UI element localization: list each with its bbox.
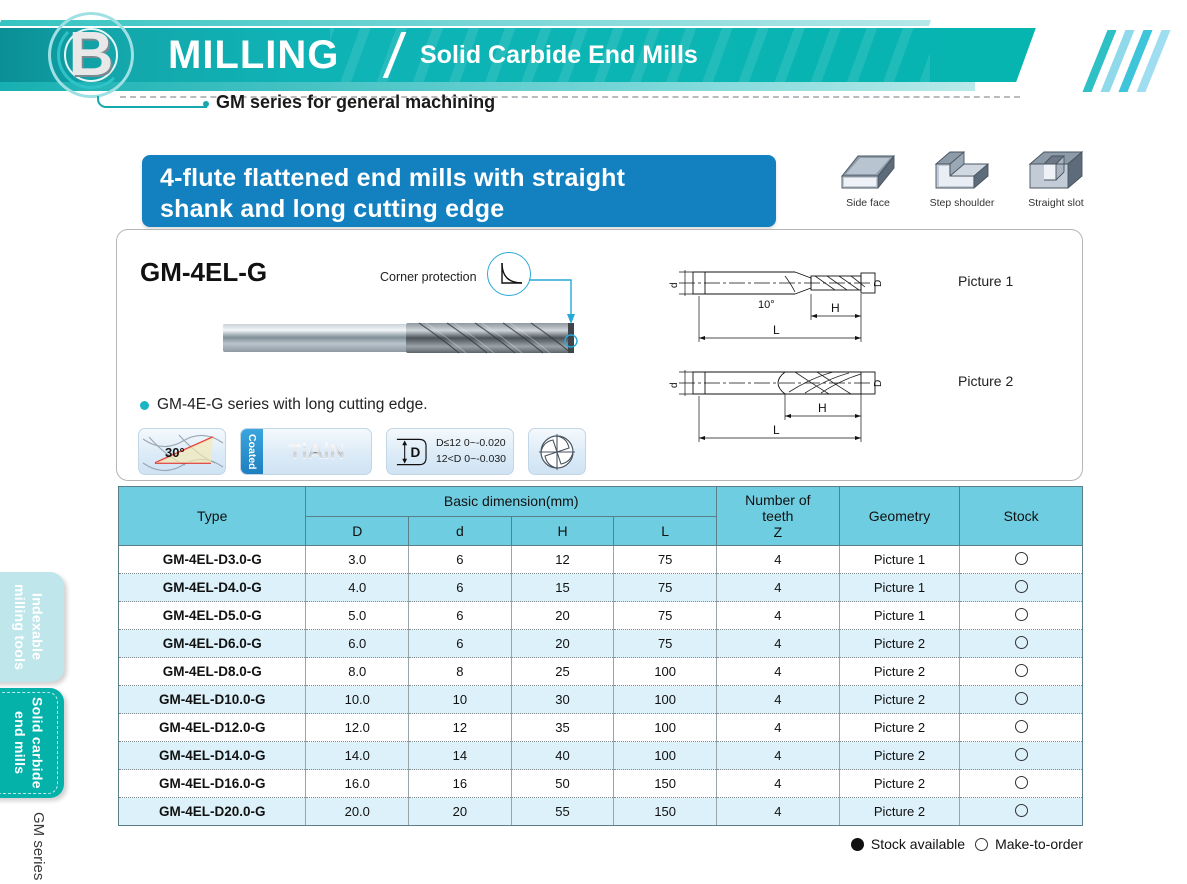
helix-angle-icon: 30° [139, 429, 225, 474]
cell-D: 14.0 [306, 742, 409, 770]
stock-legend: Stock available Make-to-order [851, 836, 1083, 852]
page-subtitle: Solid Carbide End Mills [420, 41, 698, 70]
cell-d: 6 [409, 602, 512, 630]
open-circle-icon [1015, 664, 1028, 677]
series-connector-line [97, 96, 207, 108]
coated-strip: Coated [241, 429, 263, 474]
open-circle-icon [1015, 580, 1028, 593]
cell-L: 100 [614, 742, 717, 770]
tolerance-values: D≤12 0~-0.020 12<D 0~-0.030 [436, 436, 506, 466]
legend-label: Stock available [871, 836, 965, 852]
th-D: D [306, 516, 409, 546]
corner-protection-leader-line [527, 268, 587, 338]
cell-geometry: Picture 2 [839, 798, 960, 826]
sidebar-item-indexable-milling-tools[interactable]: Indexablemilling tools [0, 572, 64, 682]
cell-H: 20 [511, 602, 614, 630]
cell-L: 75 [614, 546, 717, 574]
operation-side-face: Side face [832, 142, 904, 209]
open-circle-icon [1015, 804, 1028, 817]
cell-type: GM-4EL-D8.0-G [119, 658, 306, 686]
cell-L: 100 [614, 714, 717, 742]
cell-type: GM-4EL-D3.0-G [119, 546, 306, 574]
cell-teeth: 4 [717, 742, 840, 770]
badge-flute-count [528, 428, 586, 475]
table-row: GM-4EL-D5.0-G5.0620754Picture 1 [119, 602, 1083, 630]
cell-geometry: Picture 2 [839, 658, 960, 686]
open-circle-icon [1015, 720, 1028, 733]
cell-D: 16.0 [306, 770, 409, 798]
step-shoulder-icon [930, 142, 994, 194]
dim-H-label: H [831, 301, 840, 315]
cell-type: GM-4EL-D14.0-G [119, 742, 306, 770]
4-flute-cross-section-icon [536, 431, 578, 473]
cell-H: 55 [511, 798, 614, 826]
cell-L: 75 [614, 602, 717, 630]
diagram-picture-2: d D H L [665, 358, 950, 453]
straight-slot-icon [1024, 142, 1088, 194]
open-circle-icon [1015, 776, 1028, 789]
cell-H: 50 [511, 770, 614, 798]
dim-H-label: H [818, 401, 827, 415]
cell-H: 30 [511, 686, 614, 714]
cell-H: 12 [511, 546, 614, 574]
cell-L: 100 [614, 686, 717, 714]
table-row: GM-4EL-D20.0-G20.020551504Picture 2 [119, 798, 1083, 826]
cell-d: 6 [409, 546, 512, 574]
dim-angle-label: 10° [758, 299, 775, 311]
operation-caption: Side face [832, 197, 904, 209]
sidebar-item-solid-carbide-end-mills[interactable]: Solid carbideend mills [0, 688, 64, 798]
cell-D: 6.0 [306, 630, 409, 658]
header-corner-slashes-icon [1089, 30, 1179, 92]
legend-stock-available: Stock available [851, 836, 965, 852]
open-circle-icon [1015, 692, 1028, 705]
badge-helix-angle: 30° [138, 428, 226, 475]
cell-teeth: 4 [717, 602, 840, 630]
th-geometry: Geometry [839, 487, 960, 546]
cell-teeth: 4 [717, 630, 840, 658]
cell-H: 15 [511, 574, 614, 602]
header-accent-bottom [0, 82, 975, 91]
th-H: H [511, 516, 614, 546]
cell-teeth: 4 [717, 770, 840, 798]
product-note: GM-4E-G series with long cutting edge. [140, 396, 428, 414]
series-bullet-icon [203, 101, 209, 107]
cell-L: 150 [614, 798, 717, 826]
operation-caption: Step shoulder [926, 197, 998, 209]
section-badge-logo: B [48, 12, 134, 98]
corner-protection-marker-icon [560, 330, 582, 352]
cell-geometry: Picture 2 [839, 686, 960, 714]
cell-L: 150 [614, 770, 717, 798]
coating-name: TiAlN [263, 440, 371, 464]
series-label: GM series for general machining [216, 92, 495, 113]
cell-d: 8 [409, 658, 512, 686]
open-circle-icon [1015, 552, 1028, 565]
product-title-line1: 4-flute flattened end mills with straigh… [160, 163, 758, 194]
cell-type: GM-4EL-D4.0-G [119, 574, 306, 602]
side-face-icon [836, 142, 900, 194]
table-row: GM-4EL-D12.0-G12.012351004Picture 2 [119, 714, 1083, 742]
cell-d: 10 [409, 686, 512, 714]
cell-geometry: Picture 1 [839, 574, 960, 602]
badge-coating: Coated TiAlN [240, 428, 372, 475]
th-teeth: Number of teeth Z [717, 487, 840, 546]
product-code: GM-4EL-G [140, 257, 267, 288]
th-basic-dimension: Basic dimension(mm) [306, 487, 717, 517]
cell-teeth: 4 [717, 686, 840, 714]
cell-d: 14 [409, 742, 512, 770]
cell-D: 4.0 [306, 574, 409, 602]
page-title: MILLING [168, 33, 339, 78]
cell-D: 20.0 [306, 798, 409, 826]
dim-D-label: D [873, 380, 884, 387]
table-row: GM-4EL-D14.0-G14.014401004Picture 2 [119, 742, 1083, 770]
th-L: L [614, 516, 717, 546]
sidebar-item-label: Indexablemilling tools [11, 584, 46, 670]
open-circle-icon [975, 838, 988, 851]
table-row: GM-4EL-D8.0-G8.08251004Picture 2 [119, 658, 1083, 686]
table-row: GM-4EL-D10.0-G10.010301004Picture 2 [119, 686, 1083, 714]
diagram-picture-1: d D 10° H L [665, 258, 950, 353]
end-mill-photo [223, 320, 574, 356]
cell-L: 75 [614, 630, 717, 658]
cell-teeth: 4 [717, 714, 840, 742]
diameter-tolerance-icon: D [394, 435, 429, 469]
filled-circle-icon [851, 838, 864, 851]
cell-stock [960, 742, 1083, 770]
cell-type: GM-4EL-D20.0-G [119, 798, 306, 826]
cell-H: 25 [511, 658, 614, 686]
tolerance-line-2: 12<D 0~-0.030 [436, 452, 506, 467]
cell-stock [960, 630, 1083, 658]
operation-straight-slot: Straight slot [1020, 142, 1092, 209]
cell-L: 100 [614, 658, 717, 686]
table-header-row-1: Type Basic dimension(mm) Number of teeth… [119, 487, 1083, 517]
svg-text:D: D [410, 444, 420, 459]
open-circle-icon [1015, 636, 1028, 649]
badge-tolerance: D D≤12 0~-0.020 12<D 0~-0.030 [386, 428, 514, 475]
th-d: d [409, 516, 512, 546]
table-row: GM-4EL-D4.0-G4.0615754Picture 1 [119, 574, 1083, 602]
cell-teeth: 4 [717, 658, 840, 686]
dim-d-label: d [669, 282, 680, 288]
cell-geometry: Picture 2 [839, 770, 960, 798]
dim-D-label: D [873, 280, 884, 287]
picture-1-label: Picture 1 [958, 273, 1013, 289]
cell-stock [960, 686, 1083, 714]
cell-type: GM-4EL-D12.0-G [119, 714, 306, 742]
cell-D: 5.0 [306, 602, 409, 630]
th-type: Type [119, 487, 306, 546]
note-bullet-icon [140, 401, 149, 410]
sidebar-item-label: Solid carbideend mills [11, 697, 46, 789]
section-letter: B [48, 12, 134, 98]
dim-d-label: d [669, 382, 680, 388]
cell-H: 35 [511, 714, 614, 742]
cell-D: 10.0 [306, 686, 409, 714]
cell-stock [960, 714, 1083, 742]
svg-text:30°: 30° [165, 445, 185, 460]
sidebar-series-note: GM series [30, 812, 47, 880]
open-circle-icon [1015, 748, 1028, 761]
cell-stock [960, 574, 1083, 602]
specification-table: Type Basic dimension(mm) Number of teeth… [118, 486, 1083, 826]
cell-geometry: Picture 1 [839, 602, 960, 630]
table-row: GM-4EL-D16.0-G16.016501504Picture 2 [119, 770, 1083, 798]
legend-make-to-order: Make-to-order [975, 836, 1083, 852]
cell-d: 6 [409, 630, 512, 658]
operation-icons: Side face Step shoulder [832, 142, 1092, 209]
table-row: GM-4EL-D3.0-G3.0612754Picture 1 [119, 546, 1083, 574]
product-title-line2: shank and long cutting edge [160, 194, 758, 225]
cell-D: 8.0 [306, 658, 409, 686]
cell-H: 20 [511, 630, 614, 658]
legend-label: Make-to-order [995, 836, 1083, 852]
picture-2-label: Picture 2 [958, 373, 1013, 389]
cell-type: GM-4EL-D16.0-G [119, 770, 306, 798]
open-circle-icon [1015, 608, 1028, 621]
cell-stock [960, 798, 1083, 826]
tolerance-line-1: D≤12 0~-0.020 [436, 436, 506, 451]
spec-badges: 30° Coated TiAlN D D≤12 0~-0.020 12<D 0~… [138, 428, 586, 475]
operation-caption: Straight slot [1020, 197, 1092, 209]
cell-geometry: Picture 2 [839, 714, 960, 742]
cell-type: GM-4EL-D6.0-G [119, 630, 306, 658]
cell-stock [960, 770, 1083, 798]
cell-stock [960, 546, 1083, 574]
corner-protection-detail-icon [487, 252, 531, 296]
cell-D: 12.0 [306, 714, 409, 742]
cell-L: 75 [614, 574, 717, 602]
product-title-banner: 4-flute flattened end mills with straigh… [142, 155, 776, 227]
corner-protection-label: Corner protection [380, 270, 477, 284]
cell-d: 12 [409, 714, 512, 742]
coated-label: Coated [246, 434, 258, 470]
cell-d: 20 [409, 798, 512, 826]
cell-stock [960, 602, 1083, 630]
dim-L-label: L [773, 323, 780, 337]
dim-L-label: L [773, 423, 780, 437]
table-row: GM-4EL-D6.0-G6.0620754Picture 2 [119, 630, 1083, 658]
cell-teeth: 4 [717, 574, 840, 602]
cell-stock [960, 658, 1083, 686]
cell-geometry: Picture 2 [839, 742, 960, 770]
cell-geometry: Picture 1 [839, 546, 960, 574]
cell-H: 40 [511, 742, 614, 770]
cell-type: GM-4EL-D10.0-G [119, 686, 306, 714]
th-stock: Stock [960, 487, 1083, 546]
cell-D: 3.0 [306, 546, 409, 574]
header-accent-top [0, 20, 931, 26]
cell-d: 16 [409, 770, 512, 798]
cell-d: 6 [409, 574, 512, 602]
cell-teeth: 4 [717, 546, 840, 574]
note-text: GM-4E-G series with long cutting edge. [157, 396, 428, 414]
table-body: GM-4EL-D3.0-G3.0612754Picture 1GM-4EL-D4… [119, 546, 1083, 826]
cell-type: GM-4EL-D5.0-G [119, 602, 306, 630]
cell-geometry: Picture 2 [839, 630, 960, 658]
cell-teeth: 4 [717, 798, 840, 826]
operation-step-shoulder: Step shoulder [926, 142, 998, 209]
